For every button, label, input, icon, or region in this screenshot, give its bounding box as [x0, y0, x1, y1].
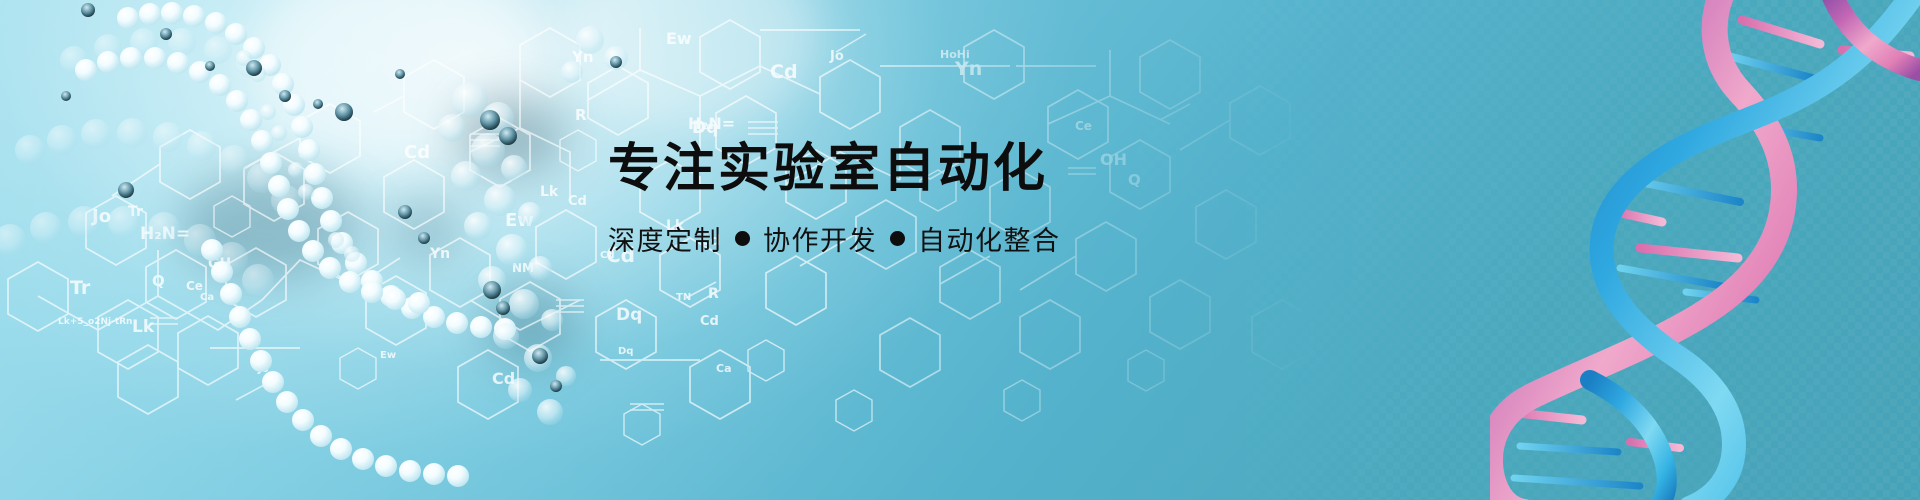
- chem-label: Q: [152, 272, 165, 290]
- chem-label: Cd: [404, 142, 430, 163]
- bokeh-glow-2: [560, 0, 820, 130]
- chem-label: Jo: [257, 364, 269, 375]
- chem-label: Yn: [429, 246, 450, 262]
- chem-label: Dq: [692, 118, 718, 138]
- chem-label: TN: [676, 292, 691, 303]
- chem-label: Cd: [568, 194, 587, 209]
- bokeh-shadow-2: [455, 95, 565, 175]
- chem-label: Cd: [700, 314, 719, 329]
- chem-label: Tr: [70, 277, 91, 299]
- chem-label: Ca: [716, 362, 732, 375]
- chem-label: Ew: [380, 350, 396, 361]
- bokeh-glow-1: [250, 0, 550, 170]
- chem-label: Ce: [186, 279, 203, 293]
- chem-label: Ca: [200, 292, 214, 303]
- chem-label: Yn: [571, 48, 594, 66]
- chem-label: H₂N=: [140, 224, 190, 244]
- chem-label: Lk: [132, 317, 155, 337]
- subtitle-item-1: 深度定制: [608, 219, 722, 258]
- chem-label: Jo: [90, 206, 111, 227]
- chem-label: Cd: [770, 61, 798, 83]
- chem-label: NM: [512, 261, 534, 275]
- hero-banner: CdJoYnYnHoHiH₂N=RDqCeOHCdEwQLkCdJoTrH₂N=…: [0, 0, 1920, 500]
- chem-label: Ew: [666, 29, 692, 48]
- dna-double-helix: [1490, 0, 1920, 500]
- subtitle-item-3: 自动化整合: [918, 219, 1061, 258]
- chem-label: Jo: [829, 49, 844, 64]
- bokeh-shadow-4: [390, 200, 460, 260]
- chem-label: Dq: [616, 305, 642, 325]
- chem-label: Ew: [505, 210, 534, 231]
- page-title: 专注实验室自动化: [608, 142, 1308, 197]
- chem-label: R: [708, 286, 719, 302]
- chem-label: Yn: [954, 58, 982, 80]
- chem-label: H₂N=: [688, 114, 735, 133]
- chem-label: HoHi: [940, 48, 970, 61]
- banner-copy: 专注实验室自动化 深度定制 协作开发 自动化整合: [608, 142, 1308, 258]
- subtitle-item-2: 协作开发: [763, 219, 877, 258]
- chem-label: Cd: [492, 369, 515, 388]
- chem-label: Lk: [540, 184, 559, 200]
- chem-label: Tr: [128, 204, 143, 220]
- bokeh-shadow-1: [180, 170, 360, 280]
- chem-label: GH: [208, 256, 231, 272]
- chem-label: Lk+5_o2Nj-tRn: [58, 317, 132, 327]
- bullet-separator-icon: [890, 231, 905, 246]
- chem-label: R: [575, 106, 587, 124]
- bullet-separator-icon: [735, 231, 750, 246]
- chem-label: Ce: [1075, 119, 1092, 133]
- chem-label: Dq: [618, 346, 633, 357]
- banner-subtitle: 深度定制 协作开发 自动化整合: [608, 219, 1308, 258]
- bokeh-shadow-3: [485, 285, 575, 365]
